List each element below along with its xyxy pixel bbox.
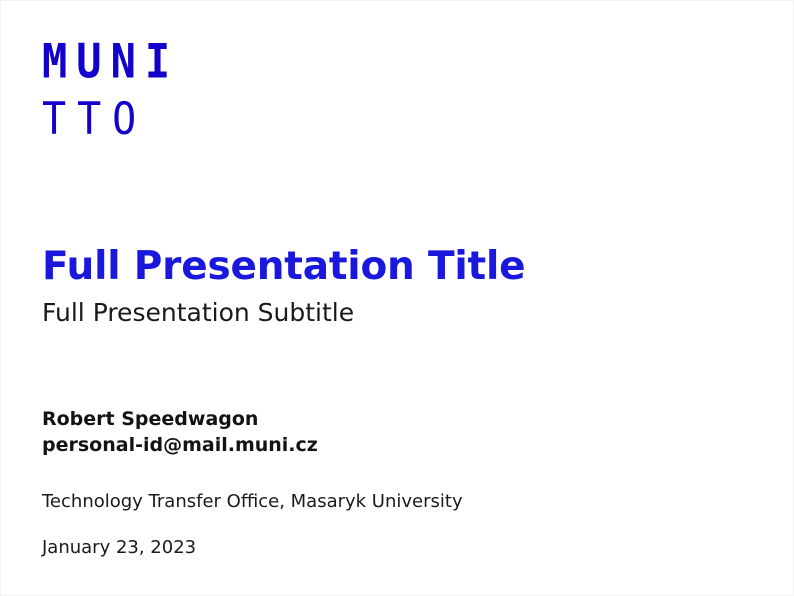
affiliation-text: Technology Transfer Office, Masaryk Univ… xyxy=(42,489,742,515)
author-email: personal-id@mail.muni.cz xyxy=(42,432,742,458)
presentation-title-slide: MUNI TTO Full Presentation Title Full Pr… xyxy=(0,0,794,596)
tto-wordmark: TTO xyxy=(42,96,179,143)
author-meta-block: Robert Speedwagon personal-id@mail.muni.… xyxy=(42,406,742,561)
muni-wordmark: MUNI xyxy=(42,37,179,86)
title-block: Full Presentation Title Full Presentatio… xyxy=(42,244,742,330)
page-subtitle: Full Presentation Subtitle xyxy=(42,296,742,330)
muni-tto-logo: MUNI TTO xyxy=(42,37,179,138)
presentation-date: January 23, 2023 xyxy=(42,535,742,561)
author-name: Robert Speedwagon xyxy=(42,406,742,432)
page-title: Full Presentation Title xyxy=(42,244,742,290)
